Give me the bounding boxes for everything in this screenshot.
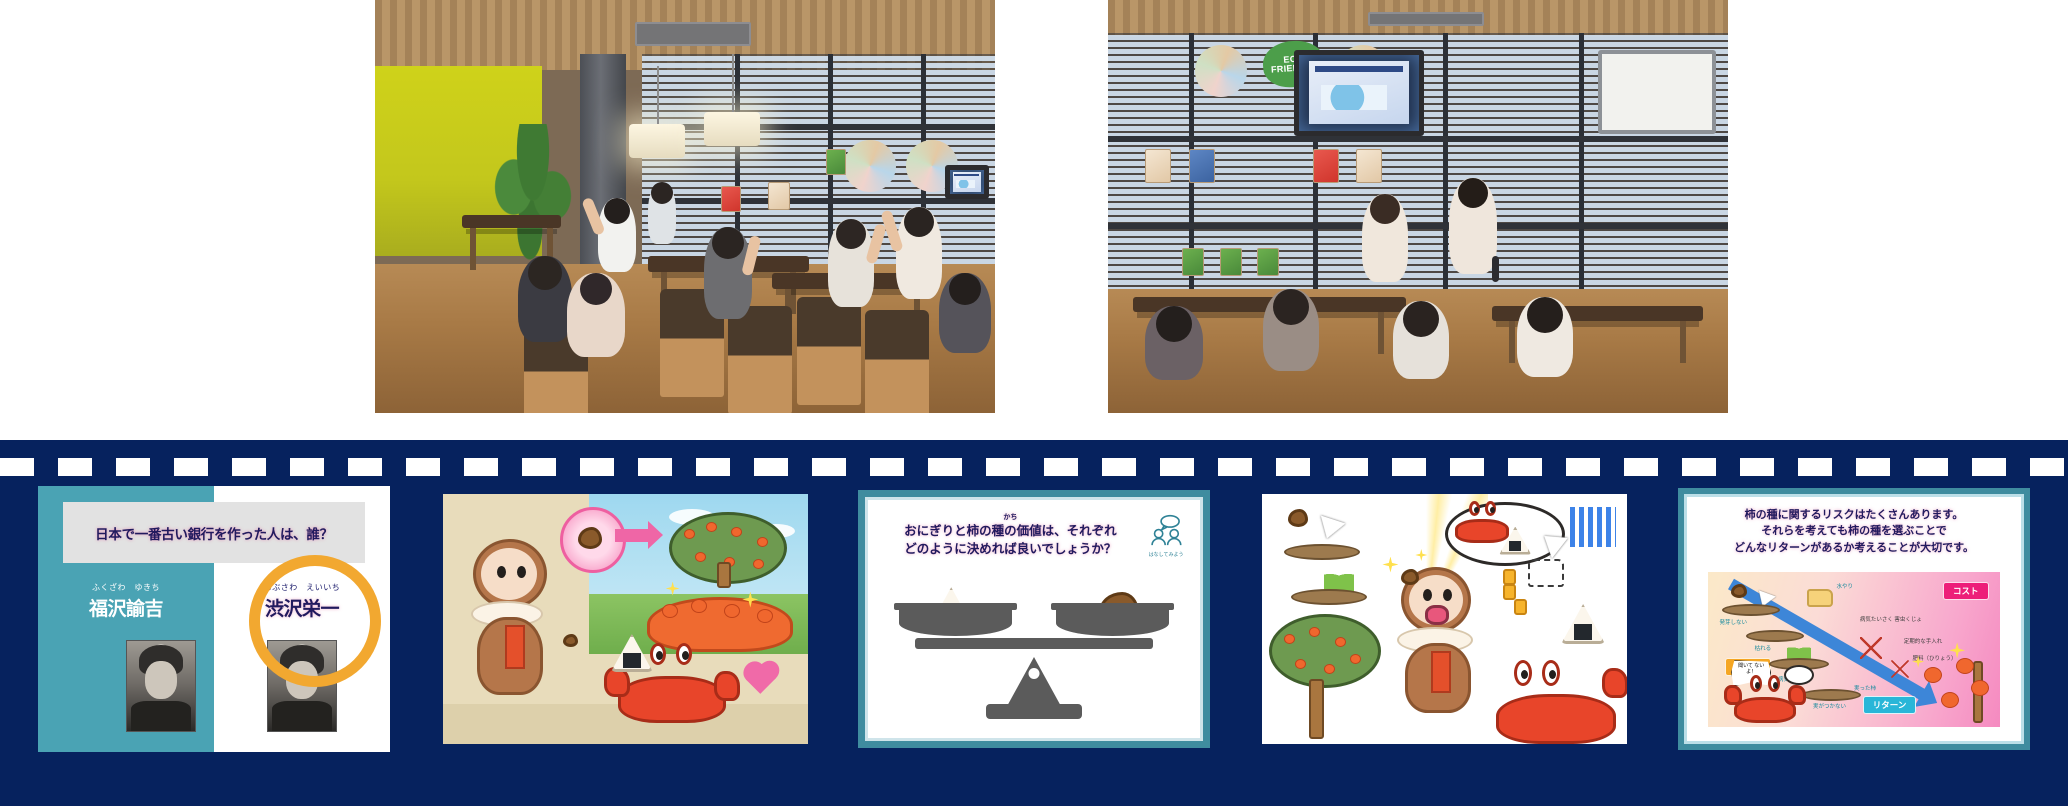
- book-display: [721, 186, 741, 212]
- book-display: [1189, 149, 1215, 183]
- photo-1-scene: [375, 0, 995, 413]
- book-display: [826, 149, 846, 175]
- display-circle: [1195, 45, 1247, 97]
- slide5-title-line-2: それらを考えても柿の種を選ぶことで: [1761, 525, 1947, 537]
- attendee: [1393, 301, 1449, 379]
- scale-pan-right: [1056, 610, 1170, 636]
- persimmon-tree-canopy: [1269, 614, 1381, 688]
- microphone: [1492, 256, 1499, 282]
- correct-answer-highlight-circle: [249, 555, 381, 687]
- attendee: [518, 256, 572, 342]
- persimmon-seed-in-hand: [1401, 569, 1419, 585]
- scale-pan-left: [899, 610, 1013, 636]
- shelf-row: [642, 124, 995, 130]
- slide-trade-decision[interactable]: [1262, 494, 1627, 744]
- chair: [865, 310, 929, 413]
- slide1-title-bar: 日本で一番古い銀行を作った人は、誰？: [63, 502, 366, 563]
- workshop-photo-1: [375, 0, 995, 413]
- persimmon-seed: [578, 527, 602, 549]
- book-display: [1182, 248, 1204, 276]
- balance-scale: [899, 592, 1169, 719]
- slide4-illustration: [1262, 494, 1627, 744]
- onigiri-rice-ball: [1561, 604, 1605, 644]
- attendee: [567, 273, 625, 357]
- chip-return: リターン: [1863, 696, 1917, 714]
- soil-mound: [1291, 589, 1367, 605]
- display-circle: [844, 140, 896, 192]
- photo-2-scene: ECOFRIENDLY: [1108, 0, 1728, 413]
- shelf-row: [1108, 223, 1728, 229]
- book-display: [1356, 149, 1382, 183]
- chair: [797, 297, 861, 405]
- slide2-illustration: [443, 494, 808, 744]
- persimmon-seed-in-hand: [563, 634, 578, 647]
- monkey-character: [1393, 559, 1501, 734]
- soil-mound: [1746, 630, 1804, 642]
- staff: [648, 182, 676, 244]
- shelf-row: [1108, 136, 1728, 142]
- page-root: ECOFRIENDLY: [0, 0, 2068, 806]
- attendee: [598, 198, 636, 272]
- workshop-photos: ECOFRIENDLY: [0, 0, 2068, 440]
- attendee: [896, 207, 942, 299]
- slide5-title-line-1: 柿の種に関するリスクはたくさんあります。: [1745, 509, 1964, 521]
- attendee: [704, 227, 752, 319]
- slide-strip: 日本で一番古い銀行を作った人は、誰？ ふくざわ ゆきち 福沢諭吉 しぶさわ えい…: [0, 486, 2068, 756]
- slide-risk-cost-return[interactable]: 柿の種に関するリスクはたくさんあります。 それらを考えても柿の種を選ぶことで ど…: [1678, 488, 2030, 750]
- slide3-title: かち おにぎりと柿の種の価値は、それぞれ どのように決めれば良いでしょうか？: [889, 514, 1132, 558]
- attendee: [939, 273, 991, 353]
- presenter-seated: [1362, 194, 1408, 282]
- slide-bank-founder-quiz[interactable]: 日本で一番古い銀行を作った人は、誰？ ふくざわ ゆきち 福沢諭吉 しぶさわ えい…: [38, 486, 390, 752]
- dashed-divider: [0, 458, 2068, 476]
- slide1-title: 日本で一番古い銀行を作った人は、誰？: [95, 523, 333, 543]
- annotation-no-fruit: 実がつかない: [1813, 702, 1846, 710]
- pruning-shears-icon: [1860, 637, 1882, 659]
- presenter-standing: [1449, 178, 1497, 274]
- persimmon-seed: [1288, 509, 1308, 527]
- annotation-no-sprout: 発芽しない: [1719, 618, 1747, 626]
- crab-character: [1734, 681, 1796, 723]
- annotation-withers: 枯れる: [1755, 644, 1772, 652]
- slide1-option-furigana: ふくざわ ゆきち: [38, 582, 214, 593]
- annotation-water: 水やり: [1836, 582, 1853, 590]
- crab-character: [1496, 666, 1616, 744]
- book-display: [1313, 149, 1339, 183]
- chair: [728, 306, 792, 413]
- annotation-upkeep: 定期的な手入れ: [1904, 637, 1943, 645]
- presentation-screen: [1294, 50, 1424, 136]
- slide-value-question[interactable]: かち おにぎりと柿の種の価値は、それぞれ どのように決めれば良いでしょうか？ は…: [858, 490, 1210, 748]
- annotation-harvest: 実った柿: [1854, 684, 1876, 692]
- book-display: [768, 182, 790, 210]
- potted-plant: [493, 124, 573, 274]
- book-display: [1220, 248, 1242, 276]
- slide3-title-line-1: おにぎりと柿の種の価値は、それぞれ: [904, 524, 1117, 538]
- pendant-lamp: [704, 112, 760, 146]
- annotation-pest-ctrl: 病気たいさく 害虫くじょ: [1860, 615, 1922, 623]
- shelf-row: [642, 198, 995, 204]
- risk-return-diagram: コスト リスク リターン 水やり 発芽しない: [1708, 572, 2000, 727]
- table: [462, 215, 561, 228]
- window-mullion: [1443, 33, 1448, 289]
- portrait-fukuzawa: [126, 640, 196, 732]
- tree-trunk: [717, 562, 731, 588]
- onigiri-outline-placeholder: [1528, 559, 1564, 587]
- slide5-title-line-3: どんなリターンがあるか考えることが大切です。: [1734, 542, 1974, 554]
- slide3-title-ruby: かち: [889, 514, 1132, 521]
- pruning-shears-icon: [1891, 660, 1909, 678]
- tree-trunk: [1309, 679, 1324, 739]
- slide5-frame: 柿の種に関するリスクはたくさんあります。 それらを考えても柿の種を選ぶことで ど…: [1678, 488, 2030, 750]
- down-arrow-icon: [1314, 515, 1345, 542]
- chip-cost: コスト: [1943, 582, 1989, 600]
- persimmon-seed: [1731, 584, 1747, 598]
- discussion-icon: はなしてみよう: [1146, 514, 1186, 556]
- open-mouth: [1425, 605, 1449, 625]
- window-mullion: [1579, 33, 1584, 289]
- attendee: [1263, 289, 1319, 371]
- slide3-frame: かち おにぎりと柿の種の価値は、それぞれ どのように決めれば良いでしょうか？ は…: [858, 490, 1210, 748]
- workshop-photo-2: ECOFRIENDLY: [1108, 0, 1728, 413]
- attendee: [828, 219, 874, 307]
- book-display: [1145, 149, 1171, 183]
- slide1-option-name: 福沢諭吉: [38, 594, 214, 621]
- book-display: [1257, 248, 1279, 276]
- whiteboard: [1598, 50, 1716, 134]
- transform-arrow: [615, 529, 649, 542]
- display-screen: [945, 165, 989, 199]
- attendee: [1517, 297, 1573, 377]
- monkey-character: [461, 539, 573, 739]
- attendee: [1145, 306, 1203, 380]
- slide3-title-line-2: どのように決めれば良いでしょうか？: [904, 542, 1116, 556]
- soil-mound: [1284, 544, 1360, 560]
- watering-can-icon: [1807, 589, 1833, 607]
- soil-mound: [1801, 689, 1861, 701]
- slide-monkey-offers-seed[interactable]: [443, 494, 808, 744]
- slide1-option-fukuzawa[interactable]: ふくざわ ゆきち 福沢諭吉: [38, 582, 214, 621]
- discussion-icon-label: はなしてみよう: [1149, 551, 1184, 558]
- barcode-icon: [1570, 507, 1616, 547]
- pendant-lamp: [629, 124, 685, 158]
- slide5-title: 柿の種に関するリスクはたくさんあります。 それらを考えても柿の種を選ぶことで ど…: [1701, 507, 2007, 557]
- ceiling: [1108, 0, 1728, 37]
- heart-icon: [746, 664, 776, 694]
- crab-in-thought: [1455, 507, 1509, 543]
